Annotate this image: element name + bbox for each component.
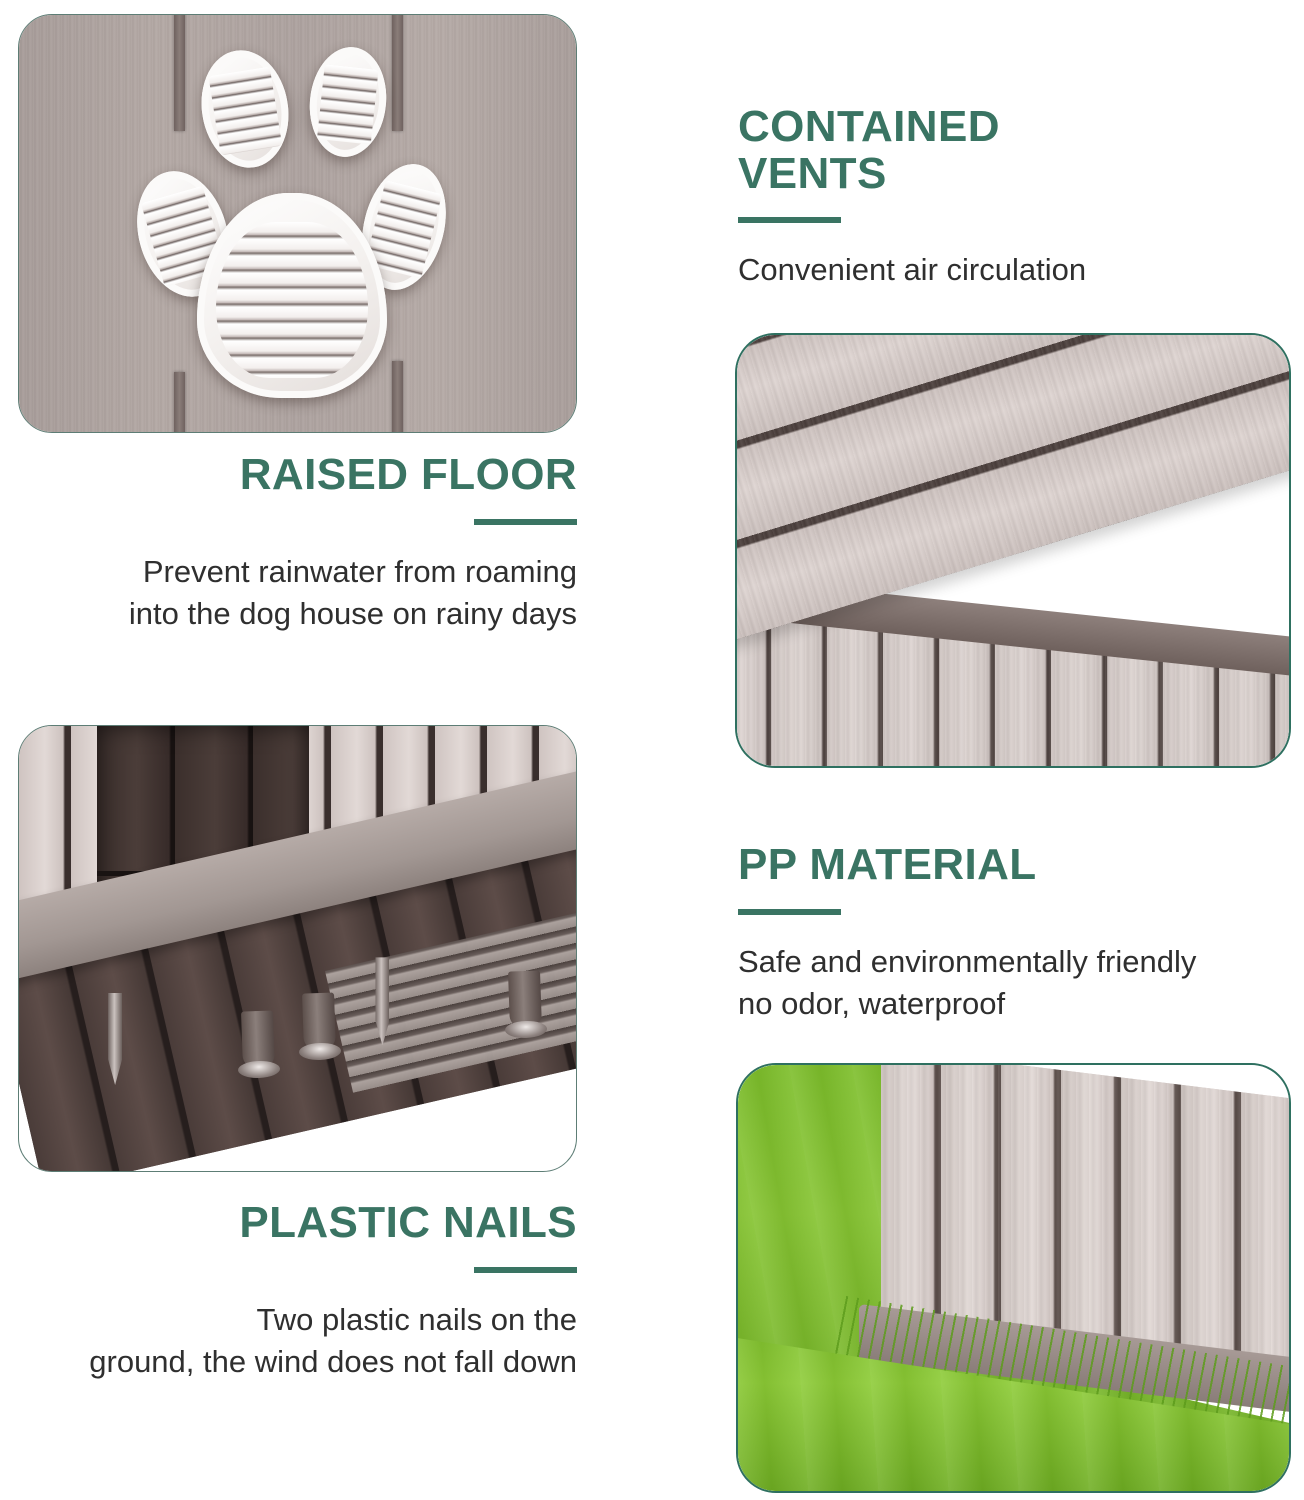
vent-louvers — [209, 67, 283, 156]
siding-groove — [392, 15, 403, 131]
nails-scene — [19, 726, 576, 1171]
grass-scene — [738, 1065, 1289, 1491]
feature-body: Safe and environmentally friendly no odo… — [738, 941, 1290, 1027]
vent-louvers — [216, 222, 368, 378]
house-on-grass-photo — [736, 1063, 1291, 1493]
paw-print-vent-photo — [18, 14, 577, 433]
feature-heading: PP MATERIAL — [738, 842, 1290, 889]
support-post — [508, 970, 542, 1029]
feature-plastic-nails: PLASTIC NAILS Two plastic nails on the g… — [18, 1200, 577, 1384]
feature-contained-vents: CONTAINED VENTS Convenient air circulati… — [738, 104, 1283, 292]
feature-raised-floor: RAISED FLOOR Prevent rainwater from roam… — [18, 452, 577, 636]
siding-groove — [174, 15, 185, 131]
support-post — [241, 1010, 275, 1069]
roof-scene — [737, 335, 1289, 766]
siding-groove — [174, 372, 185, 432]
feature-heading: CONTAINED VENTS — [738, 104, 1283, 197]
feature-heading: PLASTIC NAILS — [18, 1200, 577, 1247]
feature-body: Two plastic nails on the ground, the win… — [18, 1299, 577, 1385]
infographic-page: CONTAINED VENTS Convenient air circulati… — [0, 0, 1304, 1500]
heading-divider — [738, 217, 841, 223]
heading-divider — [474, 519, 577, 525]
feature-heading: RAISED FLOOR — [18, 452, 577, 499]
siding-groove — [392, 361, 403, 432]
roof-corner-photo — [735, 333, 1291, 768]
vent-louvers — [317, 64, 379, 144]
support-post — [302, 992, 336, 1051]
feature-body: Prevent rainwater from roaming into the … — [18, 551, 577, 637]
heading-divider — [738, 909, 841, 915]
plastic-nails-photo — [18, 725, 577, 1172]
heading-divider — [474, 1267, 577, 1273]
paw-vent-scene — [19, 15, 576, 432]
feature-pp-material: PP MATERIAL Safe and environmentally fri… — [738, 842, 1290, 1026]
feature-body: Convenient air circulation — [738, 249, 1283, 292]
